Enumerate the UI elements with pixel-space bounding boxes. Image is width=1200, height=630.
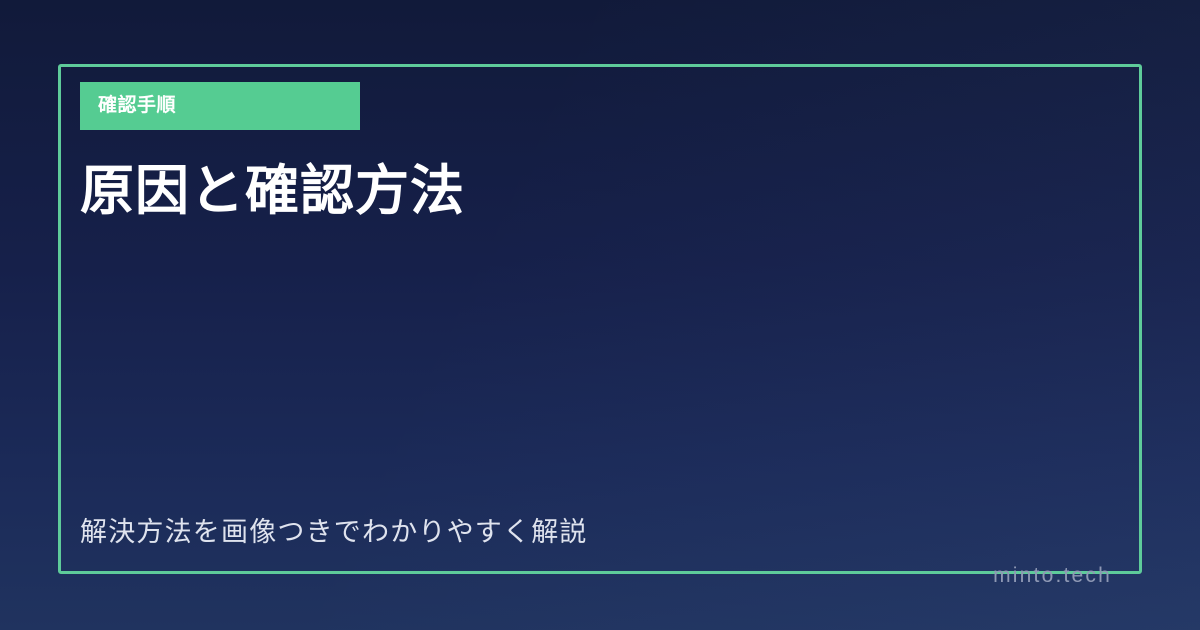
site-watermark: minto.tech — [993, 565, 1112, 586]
page-subtitle: 解決方法を画像つきでわかりやすく解説 — [80, 515, 588, 550]
card-content: 確認手順 原因と確認方法 解決方法を画像つきでわかりやすく解説 — [80, 82, 1120, 562]
eyecatch-card: 確認手順 原因と確認方法 解決方法を画像つきでわかりやすく解説 minto.te… — [0, 0, 1200, 630]
category-badge: 確認手順 — [80, 82, 360, 130]
page-title: 原因と確認方法 — [80, 160, 465, 224]
